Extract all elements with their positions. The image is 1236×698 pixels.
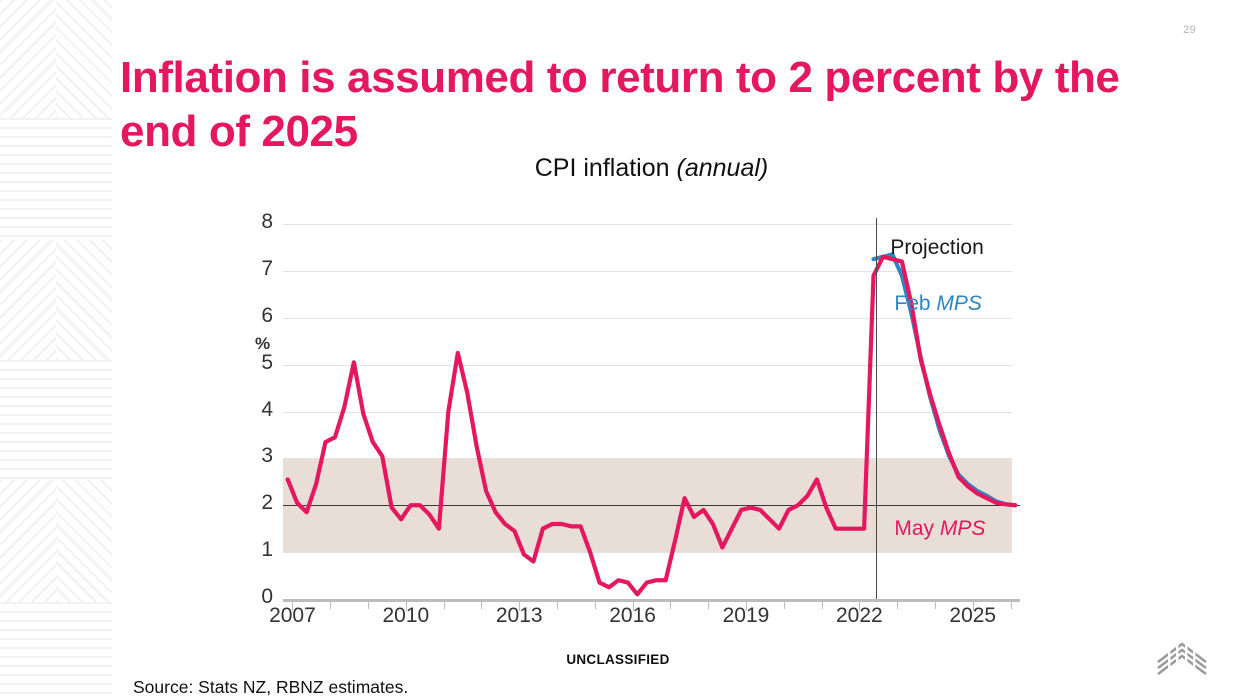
y-axis-tick-label: 8 xyxy=(247,210,273,234)
x-axis-minor-tick xyxy=(444,602,445,609)
x-axis-minor-tick xyxy=(784,602,785,609)
y-axis-tick-label: 2 xyxy=(247,491,273,515)
x-axis-major-tick xyxy=(859,602,860,611)
y-axis-tick-labels: 012345678 xyxy=(241,224,273,604)
annotation-feb-prefix: Feb xyxy=(894,292,936,315)
annotation-feb-mps: Feb MPS xyxy=(894,292,982,316)
x-axis-minor-tick xyxy=(708,602,709,609)
projection-divider-line xyxy=(876,218,877,599)
chart-title-italic: (annual) xyxy=(677,154,769,182)
chart-title-main: CPI inflation xyxy=(535,154,677,182)
rbnz-chevron-logo xyxy=(1154,636,1210,680)
x-axis-tick-labels: 2007201020132016201920222025 xyxy=(283,604,1043,634)
x-axis-minor-tick xyxy=(330,602,331,609)
annotation-projection: Projection xyxy=(890,236,983,260)
x-axis-minor-tick xyxy=(897,602,898,609)
y-axis-tick-label: 3 xyxy=(247,444,273,468)
x-axis-minor-tick xyxy=(368,602,369,609)
x-axis-major-tick xyxy=(519,602,520,611)
y-axis-tick-label: 7 xyxy=(247,257,273,281)
y-axis-tick-label: 1 xyxy=(247,538,273,562)
x-axis-minor-tick xyxy=(481,602,482,609)
x-axis-major-tick xyxy=(292,602,293,611)
x-axis-minor-tick xyxy=(670,602,671,609)
x-axis-minor-tick xyxy=(557,602,558,609)
y-axis-tick-label: 4 xyxy=(247,398,273,422)
annotation-may-mps: May MPS xyxy=(894,517,985,541)
edge-chevron-band xyxy=(0,0,112,118)
y-axis-tick-label: 5 xyxy=(247,351,273,375)
annotation-may-prefix: May xyxy=(894,517,940,540)
plot-area: Projection Feb MPS May MPS xyxy=(283,224,1020,599)
x-axis-major-tick xyxy=(406,602,407,611)
source-note: Source: Stats NZ, RBNZ estimates. xyxy=(133,677,408,698)
series-lines xyxy=(283,224,1020,599)
x-axis-line xyxy=(283,599,1020,602)
cpi-inflation-chart: CPI inflation (annual) % 012345678 20072… xyxy=(0,148,1236,648)
chart-title: CPI inflation (annual) xyxy=(283,154,1020,183)
page-number: 29 xyxy=(1183,24,1196,36)
annotation-feb-italic: MPS xyxy=(936,292,982,315)
x-axis-minor-tick xyxy=(935,602,936,609)
x-axis-major-tick xyxy=(746,602,747,611)
x-axis-minor-tick xyxy=(822,602,823,609)
x-axis-major-tick xyxy=(973,602,974,611)
page-title: Inflation is assumed to return to 2 perc… xyxy=(120,51,1150,158)
x-axis-minor-tick xyxy=(1011,602,1012,609)
x-axis-major-tick xyxy=(633,602,634,611)
y-axis-tick-label: 6 xyxy=(247,304,273,328)
classification-marking: UNCLASSIFIED xyxy=(0,652,1236,667)
annotation-may-italic: MPS xyxy=(940,517,986,540)
x-axis-minor-tick xyxy=(595,602,596,609)
